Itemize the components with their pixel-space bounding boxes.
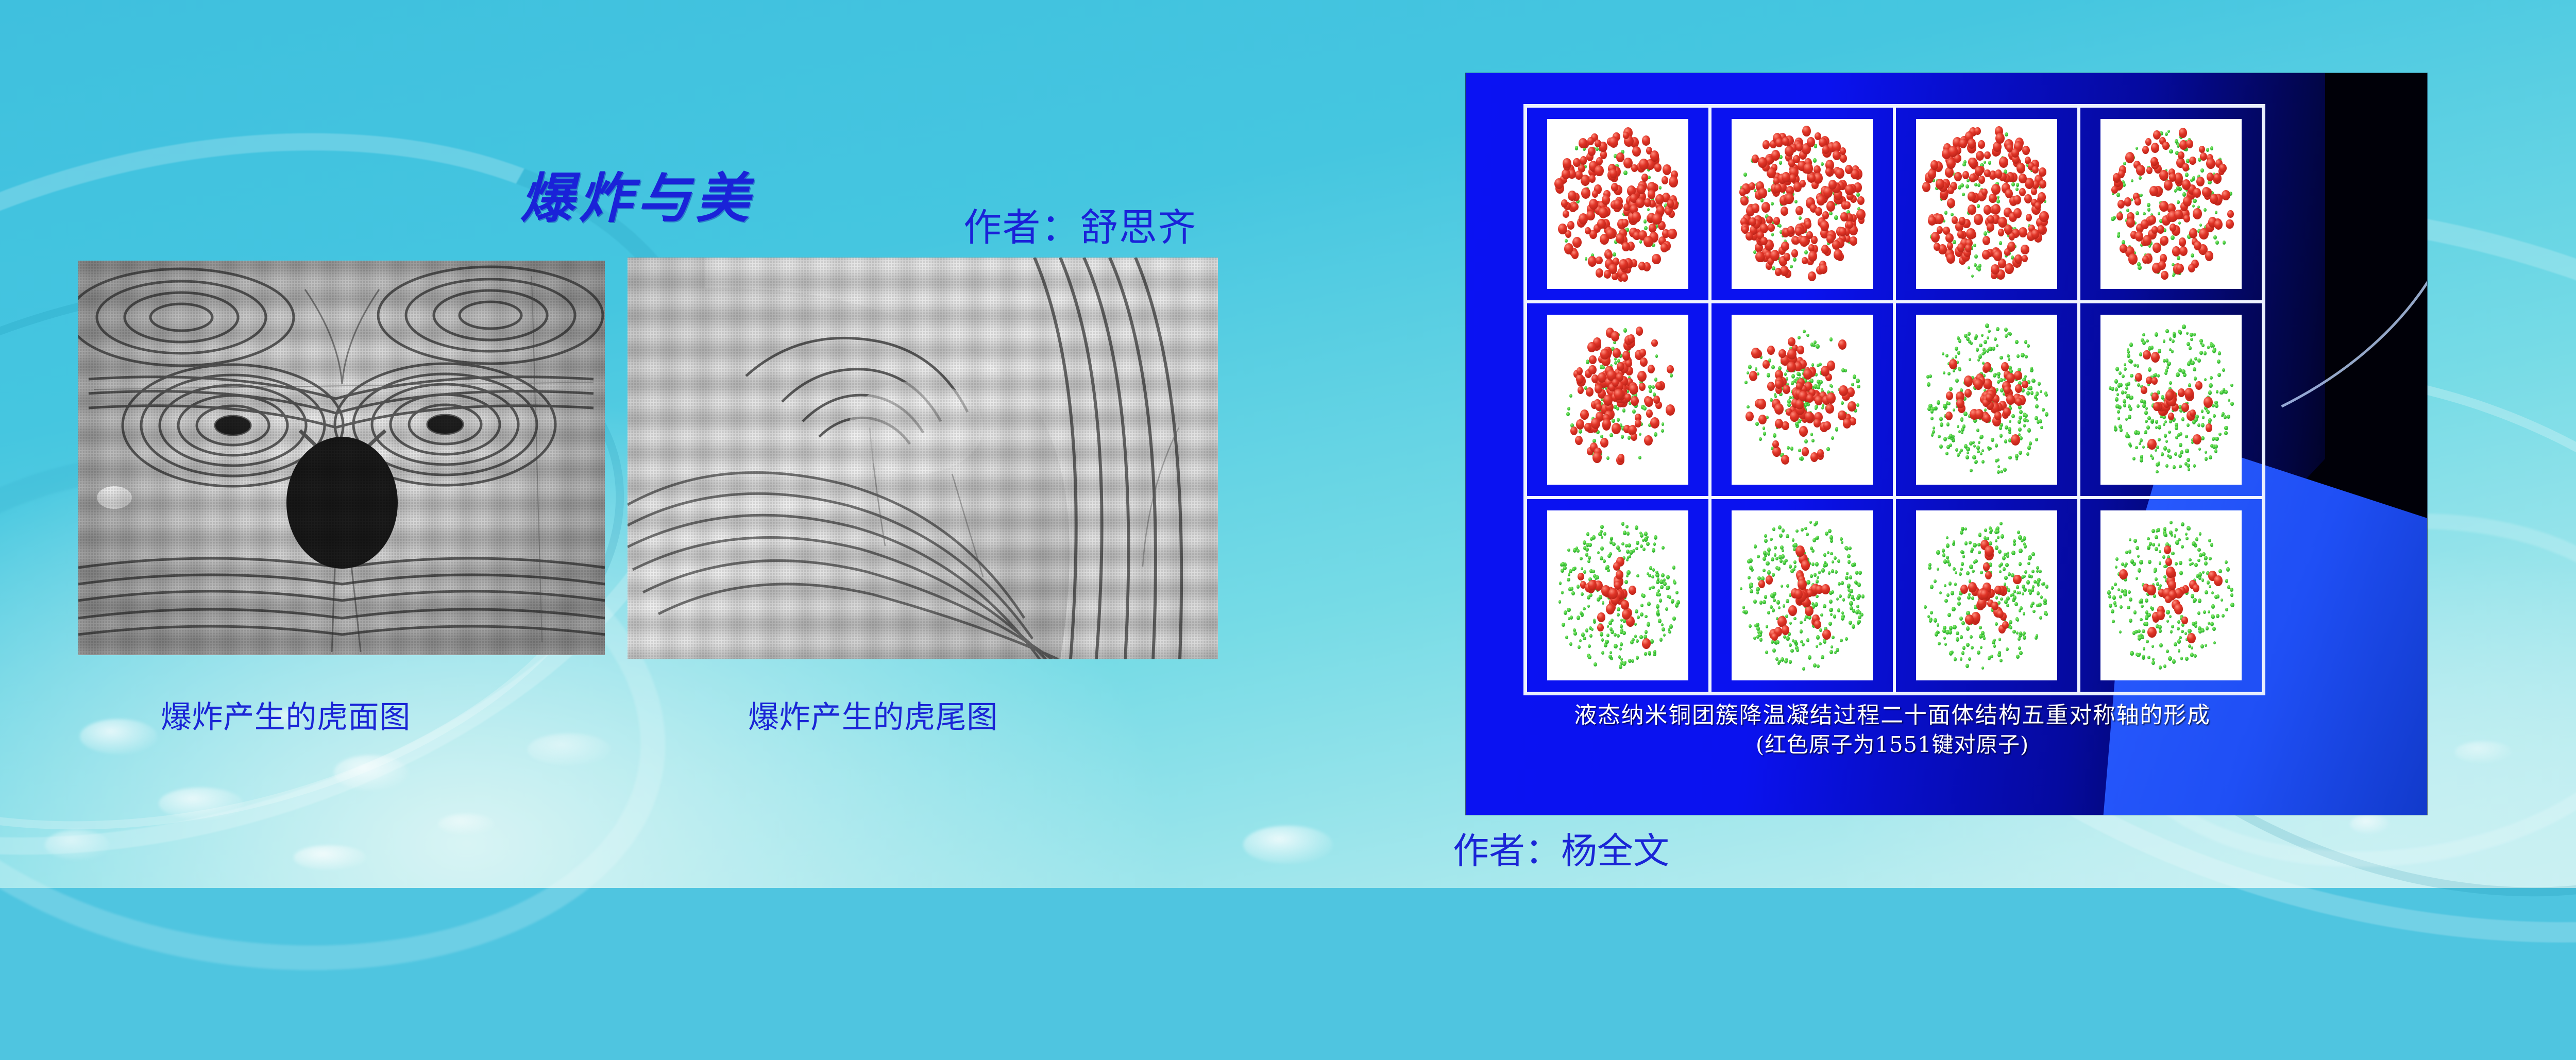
atom-red: [2117, 200, 2125, 209]
atom-green: [2213, 641, 2216, 644]
atom-green: [1840, 639, 1843, 642]
atom-red: [1752, 203, 1759, 213]
simulation-frame-canvas: [1732, 119, 1873, 288]
atom-green: [2024, 414, 2028, 418]
atom-red: [1600, 349, 1609, 360]
simulation-frame: [2079, 498, 2263, 693]
atom-green: [2139, 352, 2142, 356]
atom-green: [1651, 586, 1654, 589]
atom-green: [2216, 390, 2219, 394]
atom-green: [1836, 648, 1839, 652]
atom-red: [1623, 132, 1629, 140]
atom-red: [2039, 167, 2046, 177]
decorative-bubble: [159, 788, 243, 819]
atom-green: [2022, 592, 2024, 595]
atom-green: [2147, 203, 2150, 207]
atom-green: [1562, 623, 1565, 627]
atom-green: [2007, 552, 2009, 555]
atom-red: [1609, 136, 1618, 148]
atom-green: [1961, 621, 1965, 626]
atom-green: [1855, 571, 1858, 575]
atom-green: [2201, 409, 2204, 413]
atom-green: [2019, 549, 2022, 553]
atom-green: [1640, 604, 1643, 607]
atom-red: [1989, 194, 1996, 203]
atom-green: [1804, 527, 1807, 531]
atom-red: [2187, 633, 2196, 643]
atom-green: [2172, 274, 2175, 277]
atom-green: [1749, 566, 1753, 570]
atom-red: [1591, 418, 1600, 429]
atom-green: [1957, 425, 1959, 428]
atom-red: [1644, 435, 1653, 446]
atom-red: [1969, 174, 1976, 182]
atom-green: [2143, 212, 2145, 215]
atom-green: [1981, 666, 1984, 670]
atom-green: [1978, 533, 1982, 537]
photo-grain-overlay: [78, 261, 605, 655]
atom-red: [1808, 271, 1816, 281]
atom-green: [1587, 605, 1590, 608]
atom-green: [2003, 567, 2006, 571]
atom-green: [2115, 367, 2119, 371]
atom-green: [2008, 357, 2010, 361]
atom-red: [1766, 216, 1772, 224]
atom-green: [2177, 200, 2179, 203]
atom-green: [1849, 575, 1853, 579]
atom-green: [2137, 653, 2140, 657]
atom-green: [1955, 379, 1959, 383]
atom-green: [1779, 161, 1783, 165]
atom-green: [1605, 640, 1608, 644]
atom-green: [2138, 629, 2141, 633]
atom-green: [1621, 522, 1624, 526]
atom-red: [1617, 362, 1624, 371]
atom-green: [1589, 634, 1592, 638]
atom-red: [1576, 419, 1584, 429]
atom-red: [2032, 166, 2039, 174]
atom-green: [1849, 601, 1853, 606]
atom-green: [1857, 594, 1861, 599]
atom-green: [1980, 435, 1983, 439]
atom-green: [1955, 355, 1958, 358]
atom-red: [2189, 157, 2196, 165]
atom-green: [1929, 374, 1932, 378]
atom-green: [2163, 664, 2166, 668]
atom-red: [2168, 413, 2174, 420]
simulation-panel: 液态纳米铜团簇降温凝结过程二十面体结构五重对称轴的形成 (红色原子为1551键对…: [1466, 73, 2427, 815]
atom-green: [2190, 333, 2193, 337]
atom-green: [2151, 661, 2155, 665]
atom-red: [1629, 586, 1636, 595]
atom-green: [2019, 451, 2022, 455]
atom-red: [1554, 178, 1564, 189]
atom-green: [2165, 358, 2169, 363]
atom-green: [1622, 631, 1626, 635]
atom-green: [2137, 404, 2140, 408]
atom-red: [1802, 126, 1811, 136]
atom-green: [1943, 371, 1945, 374]
atom-green: [1944, 211, 1948, 215]
atom-green: [2137, 383, 2140, 387]
atom-green: [1771, 365, 1775, 369]
atom-red: [2128, 253, 2138, 265]
atom-green: [1988, 161, 1991, 164]
atom-red: [1742, 226, 1748, 234]
atom-green: [1943, 437, 1947, 441]
atom-green: [1961, 651, 1965, 655]
atom-green: [2214, 444, 2218, 449]
atom-red: [1995, 133, 2004, 144]
atom-red: [1814, 620, 1821, 629]
atom-green: [1979, 634, 1982, 639]
atom-green: [2027, 344, 2030, 348]
atom-red: [1580, 409, 1589, 420]
atom-red: [1981, 189, 1988, 196]
atom-green: [1636, 639, 1639, 643]
atom-green: [1829, 600, 1833, 604]
simulation-frame: [1526, 302, 1710, 498]
atom-green: [1973, 543, 1976, 548]
atom-red: [1985, 545, 1994, 557]
atom-green: [2212, 349, 2216, 353]
atom-green: [1759, 601, 1762, 605]
atom-green: [1851, 595, 1854, 600]
atom-green: [2171, 235, 2174, 240]
atom-green: [1995, 459, 1998, 463]
atom-green: [2114, 604, 2117, 607]
atom-red: [1959, 217, 1965, 225]
atom-green: [2114, 425, 2116, 429]
atom-green: [2189, 558, 2192, 562]
atom-green: [1838, 582, 1841, 586]
atom-red: [1984, 205, 1992, 215]
atom-green: [1640, 533, 1643, 538]
atom-green: [1791, 374, 1795, 379]
atom-green: [2187, 423, 2190, 427]
atom-red: [1592, 190, 1599, 198]
atom-green: [1649, 587, 1652, 590]
atom-green: [2151, 645, 2154, 648]
atom-green: [1784, 372, 1787, 376]
atom-green: [2186, 332, 2189, 335]
atom-green: [2148, 560, 2151, 564]
atom-green: [2114, 379, 2118, 384]
atom-green: [1783, 604, 1786, 608]
atom-green: [2165, 329, 2168, 333]
atom-red: [1945, 412, 1953, 420]
atom-green: [2146, 640, 2149, 643]
atom-red: [2199, 228, 2208, 240]
atom-green: [1594, 662, 1597, 667]
atom-green: [2128, 550, 2131, 553]
atom-red: [1798, 579, 1807, 590]
atom-green: [1841, 401, 1844, 405]
atom-red: [1781, 207, 1788, 216]
atom-green: [1953, 540, 1956, 544]
atom-green: [1960, 657, 1963, 661]
atom-green: [1811, 562, 1815, 566]
atom-red: [1762, 140, 1770, 149]
atom-green: [2197, 423, 2200, 427]
atom-red: [2193, 434, 2201, 444]
atom-green: [1957, 602, 1961, 606]
atom-green: [1652, 568, 1655, 572]
atom-green: [1666, 586, 1669, 590]
atom-green: [1675, 591, 1679, 594]
atom-green: [1851, 383, 1854, 387]
atom-green: [2003, 468, 2007, 472]
atom-red: [1596, 157, 1603, 165]
atom-green: [1781, 585, 1784, 588]
atom-red: [2206, 423, 2213, 432]
atom-green: [1817, 664, 1820, 668]
atom-red: [1794, 589, 1802, 599]
atom-green: [1573, 631, 1577, 635]
atom-green: [1817, 576, 1819, 579]
atom-red: [1640, 357, 1648, 367]
atom-green: [1786, 534, 1789, 538]
atom-green: [1592, 570, 1595, 573]
atom-green: [1930, 585, 1934, 589]
atom-green: [2159, 665, 2162, 670]
atom-green: [1558, 600, 1561, 603]
atom-green: [1995, 596, 1998, 600]
atom-green: [1798, 336, 1801, 339]
atom-green: [1981, 449, 1984, 452]
atom-green: [1964, 527, 1967, 531]
atom-green: [2217, 373, 2221, 377]
atom-green: [2124, 363, 2127, 367]
atom-green: [1942, 352, 1944, 355]
atom-green: [1782, 528, 1785, 533]
atom-green: [1759, 630, 1762, 634]
atom-red: [1632, 146, 1641, 157]
atom-red: [1597, 612, 1605, 622]
atom-green: [2170, 521, 2173, 524]
atom-green: [1854, 580, 1857, 584]
atom-green: [1929, 619, 1932, 623]
atom-red: [1968, 204, 1976, 215]
atom-green: [2143, 647, 2145, 650]
atom-green: [2224, 431, 2227, 435]
atom-green: [2165, 464, 2169, 468]
atom-red: [2196, 177, 2205, 186]
atom-green: [1960, 531, 1963, 535]
atom-green: [2215, 241, 2219, 245]
atom-green: [1771, 557, 1774, 561]
atom-green: [2155, 535, 2158, 539]
atom-green: [2178, 221, 2181, 225]
atom-red: [1821, 245, 1829, 254]
atom-green: [1577, 549, 1580, 553]
atom-green: [1644, 652, 1647, 655]
atom-green: [1832, 560, 1834, 563]
atom-green: [2123, 162, 2126, 165]
atom-green: [1566, 412, 1570, 416]
atom-green: [1635, 525, 1638, 530]
atom-red: [1986, 394, 1993, 402]
atom-green: [2000, 470, 2003, 473]
atom-green: [2226, 567, 2230, 572]
atom-green: [1993, 373, 1996, 378]
atom-green: [1644, 226, 1648, 230]
atom-red: [1975, 166, 1984, 176]
atom-red: [1771, 633, 1778, 641]
atom-green: [1607, 569, 1610, 572]
atom-green: [1757, 555, 1760, 558]
atom-red: [1787, 226, 1794, 234]
atom-red: [2174, 210, 2182, 219]
atom-red: [1959, 139, 1968, 148]
atom-red: [2147, 585, 2156, 595]
atom-green: [2137, 262, 2140, 266]
atom-red: [1826, 201, 1835, 212]
atom-red: [1572, 237, 1582, 248]
atom-red: [2014, 371, 2022, 380]
atom-green: [2203, 610, 2206, 614]
atom-green: [1804, 439, 1808, 443]
atom-red: [2157, 610, 2165, 620]
atom-green: [1603, 559, 1606, 563]
atom-red: [2153, 243, 2161, 253]
atom-green: [2135, 446, 2138, 450]
atom-green: [1953, 408, 1955, 412]
atom-green: [1794, 200, 1798, 203]
atom-green: [2127, 606, 2130, 610]
atom-green: [1968, 657, 1971, 661]
atom-red: [1609, 169, 1617, 178]
atom-green: [1977, 204, 1980, 208]
atom-green: [1825, 532, 1828, 536]
atom-red: [1558, 224, 1567, 234]
atom-green: [2198, 599, 2201, 603]
atom-green: [1770, 593, 1774, 598]
atom-green: [1617, 418, 1620, 422]
atom-red: [1628, 334, 1635, 343]
atom-green: [1943, 404, 1946, 408]
atom-green: [1766, 625, 1769, 628]
atom-green: [1658, 619, 1662, 623]
atom-green: [1748, 365, 1752, 369]
atom-green: [1943, 637, 1946, 640]
atom-red: [2176, 264, 2184, 273]
atom-green: [2029, 591, 2032, 595]
atom-red: [2002, 621, 2009, 629]
atom-green: [2000, 597, 2003, 601]
atom-green: [1569, 394, 1572, 398]
atom-green: [1649, 389, 1652, 393]
atom-green: [1626, 574, 1629, 577]
atom-green: [1970, 635, 1973, 639]
atom-red: [1819, 264, 1827, 273]
atom-green: [2158, 349, 2161, 353]
atom-red: [1802, 447, 1809, 456]
atom-green: [2006, 604, 2009, 607]
atom-green: [2004, 600, 2008, 604]
atom-green: [2035, 438, 2038, 441]
atom-green: [1642, 539, 1645, 542]
atom-red: [1637, 184, 1646, 194]
atom-red: [1978, 176, 1985, 184]
atom-green: [2137, 364, 2140, 368]
atom-green: [1847, 554, 1851, 558]
atom-green: [2001, 534, 2004, 539]
atom-green: [2013, 590, 2016, 593]
atom-red: [1602, 419, 1611, 429]
atom-green: [2192, 622, 2195, 626]
atom-green: [1961, 562, 1964, 566]
atom-green: [1841, 541, 1843, 544]
atom-green: [1755, 422, 1759, 426]
atom-red: [1928, 216, 1936, 226]
atom-green: [2005, 563, 2008, 567]
atom-green: [1940, 422, 1943, 427]
atom-red: [1987, 215, 1994, 224]
simulation-frame-canvas: [1732, 315, 1873, 484]
atom-green: [1816, 344, 1819, 349]
atom-green: [1824, 561, 1826, 564]
atom-green: [2116, 404, 2120, 408]
atom-green: [1958, 368, 1961, 371]
atom-red: [1825, 404, 1834, 414]
atom-green: [1648, 574, 1651, 577]
atom-green: [1661, 429, 1664, 433]
atom-red: [1795, 227, 1803, 235]
decorative-bubble: [80, 719, 157, 754]
atom-green: [2129, 619, 2132, 623]
atom-red: [1652, 254, 1660, 265]
atom-green: [1780, 559, 1783, 563]
atom-green: [2125, 386, 2128, 390]
atom-green: [1773, 599, 1776, 602]
atom-green: [1663, 578, 1666, 582]
atom-red: [1983, 414, 1991, 423]
atom-green: [2194, 563, 2198, 568]
atom-red: [1666, 404, 1675, 416]
atom-red: [2141, 386, 2147, 394]
atom-green: [1600, 632, 1603, 637]
atom-green: [1823, 640, 1826, 644]
atom-red: [1928, 169, 1936, 179]
atom-green: [1951, 213, 1954, 216]
atom-red: [1762, 360, 1770, 369]
atom-green: [2192, 541, 2195, 546]
atom-green: [1958, 185, 1961, 190]
atom-green: [2020, 606, 2023, 610]
atom-green: [1770, 538, 1773, 541]
atom-green: [1837, 608, 1841, 612]
atom-green: [1979, 344, 1982, 348]
atom-green: [2208, 610, 2210, 613]
simulation-frame-canvas: [1916, 510, 2058, 680]
atom-green: [1821, 162, 1824, 166]
atom-green: [2125, 383, 2128, 386]
atom-red: [1653, 396, 1660, 404]
atom-green: [1642, 548, 1646, 552]
decorative-bubble: [2455, 741, 2512, 763]
atom-green: [1984, 340, 1987, 344]
atom-green: [2129, 343, 2133, 347]
atom-green: [2119, 630, 2122, 634]
atom-green: [1953, 567, 1956, 571]
simulation-caption: 液态纳米铜团簇降温凝结过程二十面体结构五重对称轴的形成 (红色原子为1551键对…: [1523, 700, 2261, 759]
atom-red: [2210, 194, 2218, 203]
atom-green: [1772, 527, 1775, 531]
atom-green: [1607, 625, 1609, 628]
atom-green: [2169, 531, 2172, 535]
atom-green: [2154, 373, 2157, 377]
